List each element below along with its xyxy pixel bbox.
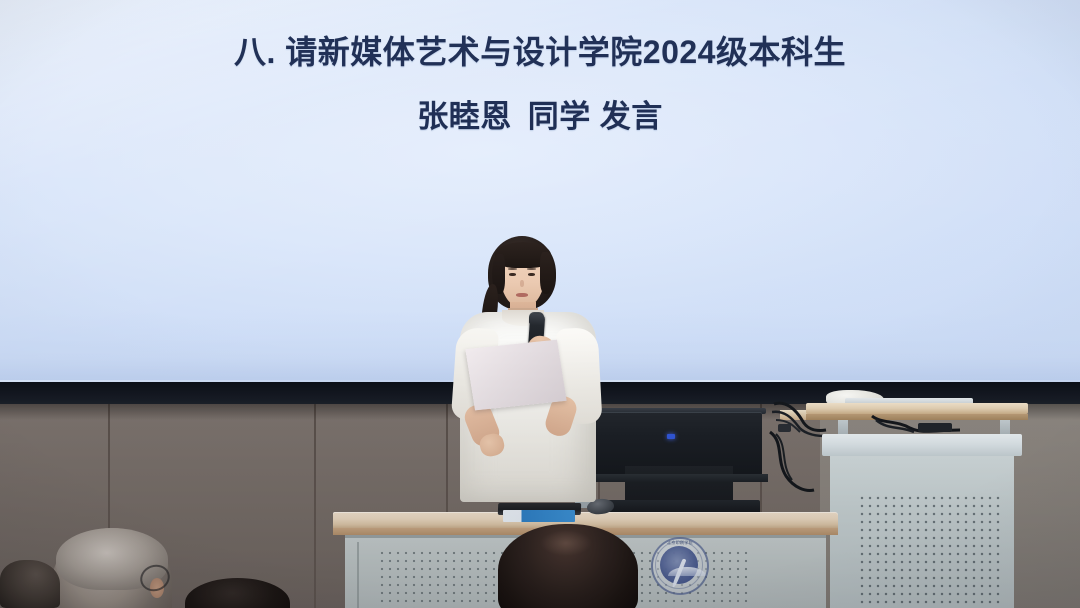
equipment-shelf (806, 403, 1028, 414)
monitor-cables (766, 430, 816, 510)
speaker-nose (520, 280, 524, 287)
cabinet-body (830, 456, 1014, 608)
emblem-ring-text-top: 北京印刷学院 (653, 539, 707, 547)
speaker-mouth (516, 293, 528, 297)
slide-line-2: 张睦恩同学发言 (0, 97, 1080, 137)
speech-paper (465, 340, 566, 411)
photo-canvas: 八. 请新媒体艺术与设计学院2024级本科生 张睦恩同学发言 (0, 0, 1080, 608)
audience-head-edge (0, 560, 60, 608)
wall-seam (314, 404, 316, 608)
speaker-eye-right (528, 273, 535, 276)
monitor-power-led (667, 434, 675, 439)
slide-speaker-name: 张睦恩 (417, 99, 512, 134)
slide-text-block: 八. 请新媒体艺术与设计学院2024级本科生 张睦恩同学发言 (0, 32, 1080, 137)
speaker-eye-left (509, 273, 516, 276)
emblem-ring-text: 北京印刷学院 (653, 539, 707, 593)
speaker-eyebrow-right (527, 268, 536, 270)
lectern-side-seam (357, 542, 359, 608)
slide-speaker-role: 同学 (528, 99, 591, 134)
slide-line-1: 八. 请新媒体艺术与设计学院2024级本科生 (0, 32, 1080, 72)
cabinet-top-surface (822, 434, 1022, 456)
audience-head-center-highlight (540, 530, 592, 556)
cable-bundle-right (870, 414, 960, 436)
student-speaker (440, 236, 630, 526)
equipment-cabinet-right (822, 434, 1022, 608)
speaker-eyebrow-left (508, 268, 517, 270)
slide-speaker-action: 发言 (600, 99, 663, 134)
university-emblem: 北京印刷学院 (651, 537, 709, 595)
cabinet-perforation-panel (858, 494, 1002, 608)
monitor-cable-icon (766, 430, 816, 510)
speaker-hair-side-right (540, 252, 554, 294)
